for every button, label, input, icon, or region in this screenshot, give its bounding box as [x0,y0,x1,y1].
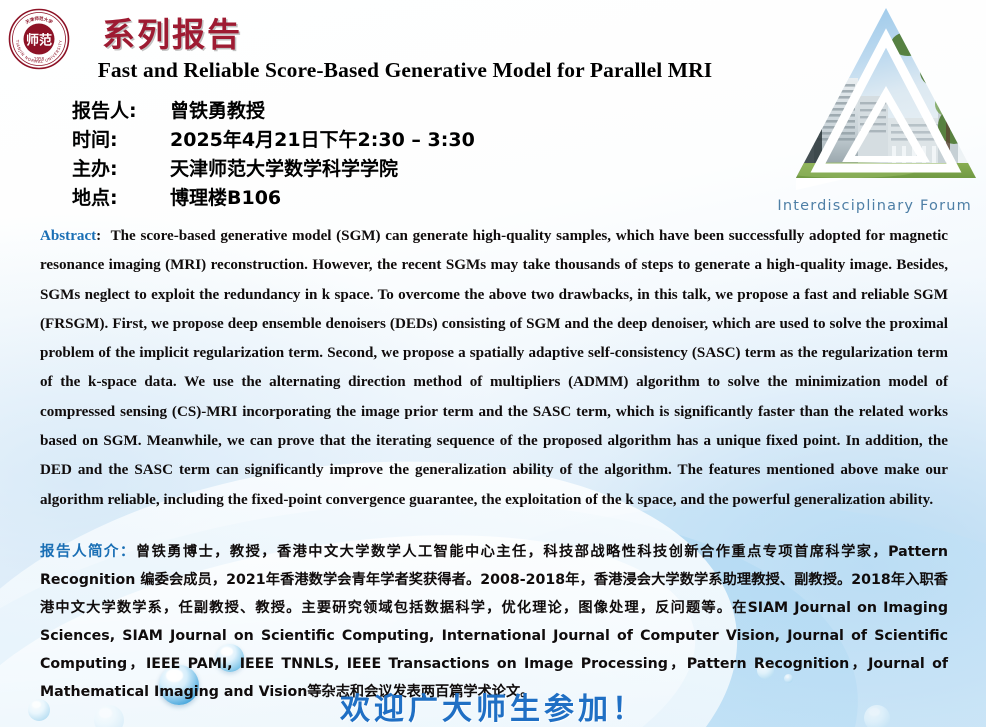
bio-label: 报告人简介： [40,544,136,560]
campus-triangle-image [788,0,984,190]
info-value-time: 2025年4月21日下午2:30 – 3:30 [170,125,475,152]
info-row-venue: 地点: 博理楼B106 [72,183,692,212]
info-value-venue: 博理楼B106 [170,183,281,210]
forum-label: Interdisciplinary Forum [777,198,972,214]
info-label-venue: 地点: [72,183,170,210]
series-title: 系列报告 [102,8,242,56]
bio-body: 曾铁勇博士，教授，香港中文大学数学人工智能中心主任，科技部战略性科技创新合作重点… [40,544,948,700]
info-label-speaker: 报告人: [72,96,170,123]
info-value-speaker: 曾铁勇教授 [170,96,265,123]
abstract-separator: : [96,228,101,244]
abstract-label: Abstract [40,228,96,244]
page-title: Fast and Reliable Score-Based Generative… [0,58,810,83]
info-value-organizer: 天津师范大学数学科学学院 [170,154,398,181]
info-row-organizer: 主办: 天津师范大学数学科学学院 [72,154,692,183]
event-info-list: 报告人: 曾铁勇教授 时间: 2025年4月21日下午2:30 – 3:30 主… [72,96,692,212]
info-label-time: 时间: [72,125,170,152]
info-label-organizer: 主办: [72,154,170,181]
svg-text:师范: 师范 [26,33,52,49]
seminar-poster: 师范 天津师范大学 TIANJIN NORMAL UNIVERSITY 1958… [0,0,986,727]
info-row-speaker: 报告人: 曾铁勇教授 [72,96,692,125]
abstract-section: Abstract: The score-based generative mod… [40,222,948,515]
welcome-message: 欢迎广大师生参加！ [0,684,986,727]
speaker-bio-section: 报告人简介：曾铁勇博士，教授，香港中文大学数学人工智能中心主任，科技部战略性科技… [40,538,948,706]
info-row-time: 时间: 2025年4月21日下午2:30 – 3:30 [72,125,692,154]
abstract-body: The score-based generative model (SGM) c… [40,228,948,508]
